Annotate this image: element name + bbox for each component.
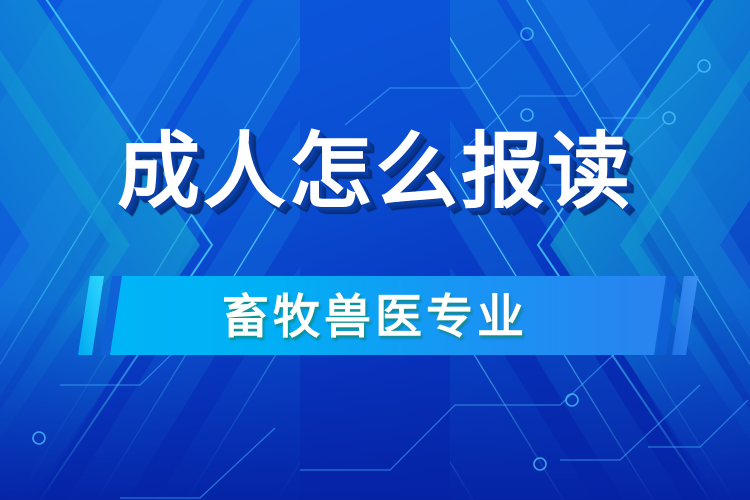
background-art <box>0 0 750 500</box>
promo-poster: 成人怎么报读 <box>0 0 750 500</box>
subtitle-banner-block: 畜牧兽医专业 <box>0 270 750 365</box>
main-title-block: 成人怎么报读 <box>0 119 750 223</box>
main-title-text: 成人怎么报读 <box>117 130 633 213</box>
subtitle-text: 畜牧兽医专业 <box>0 270 750 355</box>
